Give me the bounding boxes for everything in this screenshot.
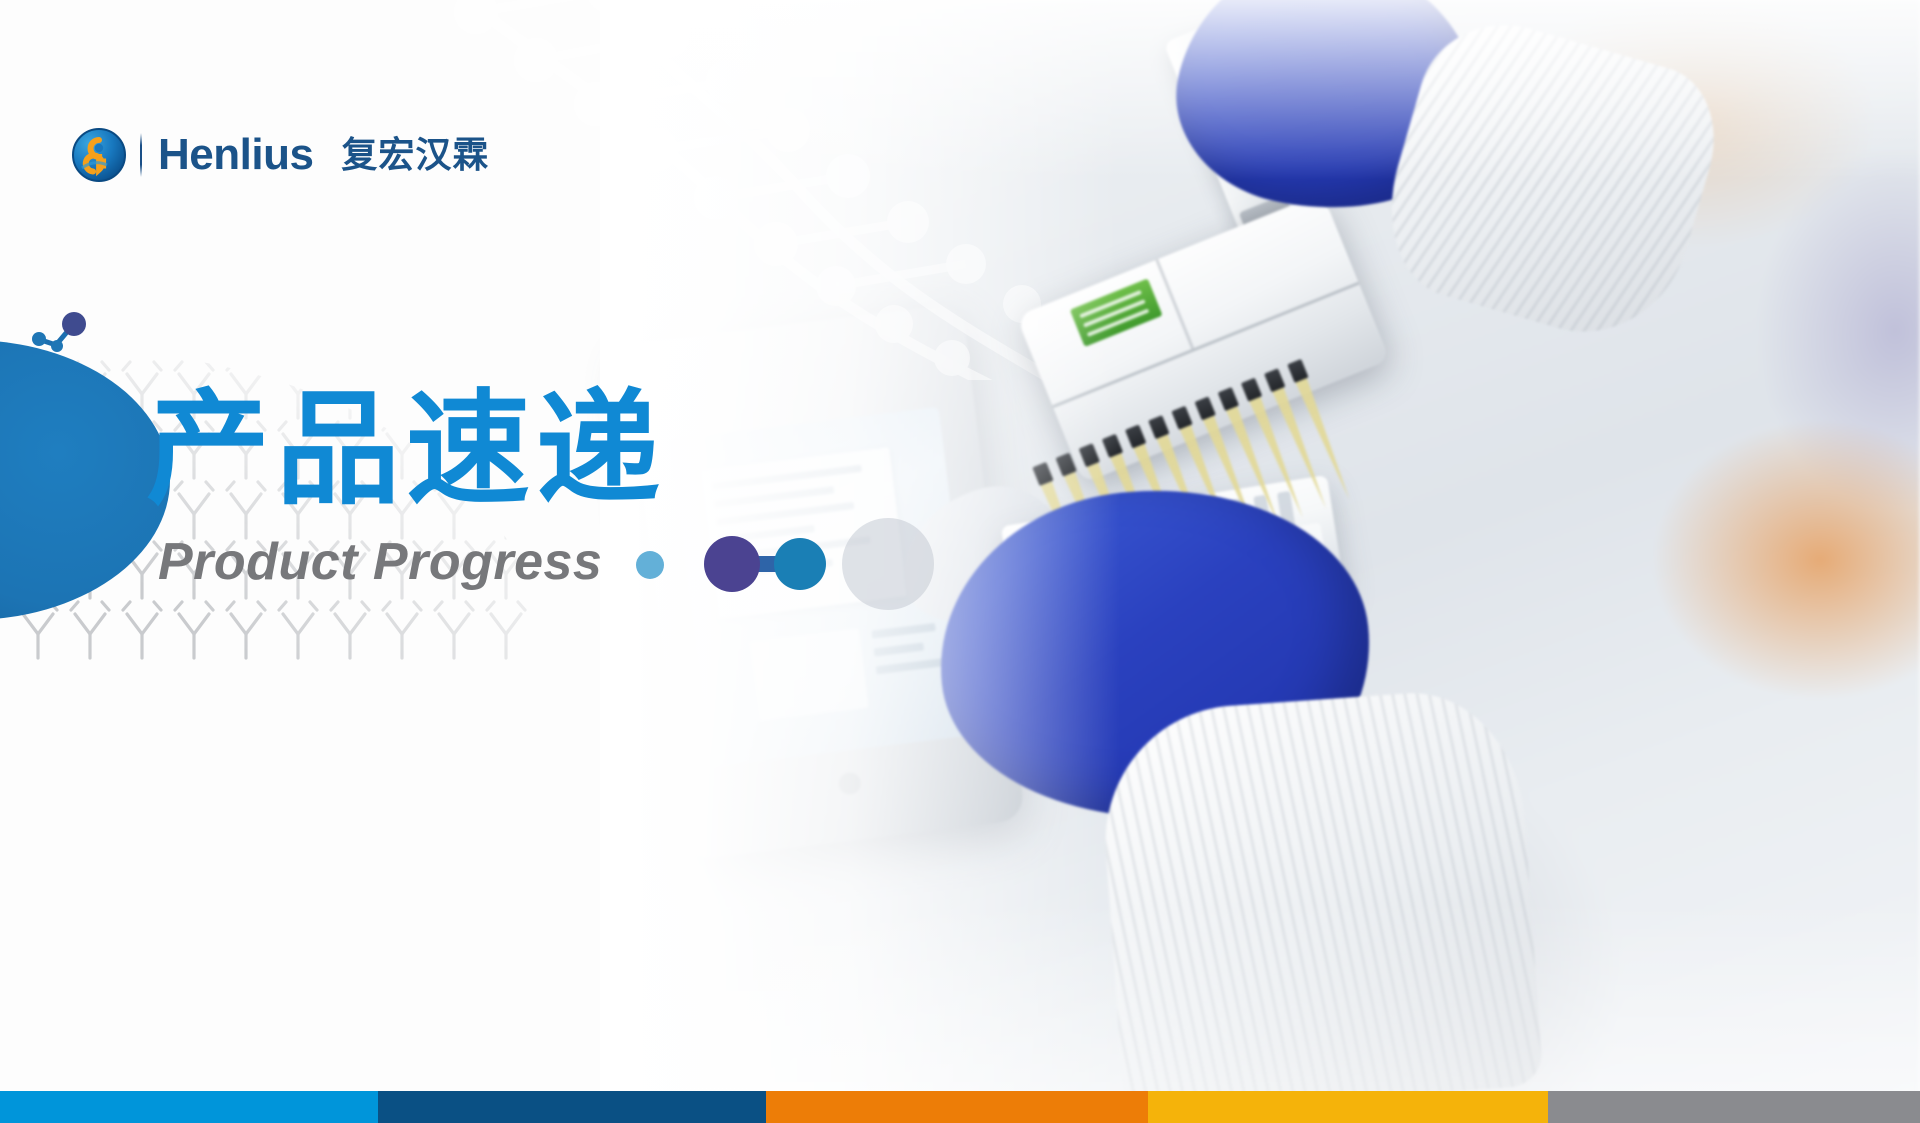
logo-name-cn: 复宏汉霖 <box>341 137 489 173</box>
page-title-cn: 产品速递 <box>146 385 666 515</box>
segment-gold <box>1148 1091 1548 1123</box>
segment-navy <box>378 1091 766 1123</box>
page-subtitle-en: Product Progress <box>158 534 602 591</box>
segment-light-blue <box>0 1091 378 1123</box>
logo-divider <box>140 133 142 177</box>
photo-bottom-feather <box>600 900 1920 1100</box>
bottom-color-bar <box>0 1091 1920 1123</box>
photo-top-feather <box>600 0 1920 180</box>
molecule-accent-small-icon <box>28 312 98 360</box>
ghost-accent-circle <box>842 518 934 610</box>
molecule-accent-large-icon <box>702 534 832 596</box>
brand-logo[interactable]: Henlius 复宏汉霖 <box>72 124 489 186</box>
segment-orange <box>766 1091 1148 1123</box>
logo-name-en: Henlius <box>158 133 313 177</box>
henlius-logo-mark-icon <box>72 128 126 182</box>
segment-gray <box>1548 1091 1920 1123</box>
accent-dot-light-blue <box>636 551 664 579</box>
cover-slide: 产品速递 Product Progress <box>0 0 1920 1123</box>
